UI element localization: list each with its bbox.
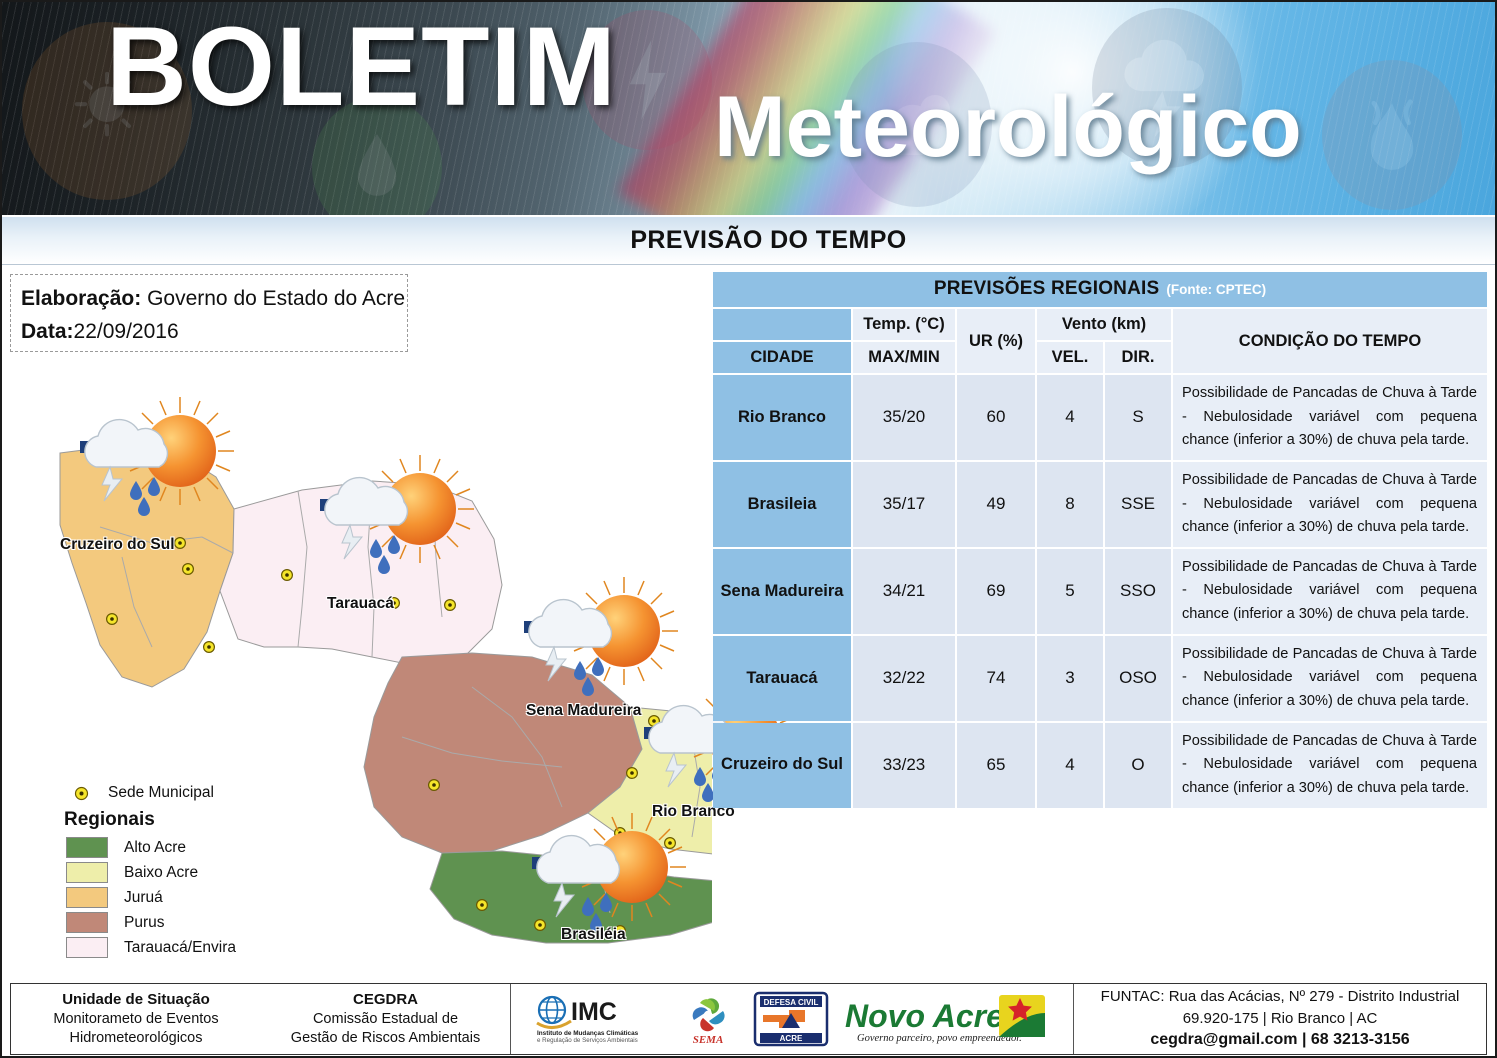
cell-temp-rio-branco: 35/20 — [853, 375, 955, 460]
cell-condition-rio-branco: Possibilidade de Pancadas de Chuva à Tar… — [1173, 375, 1487, 460]
cell-dir-cruzeiro-do-sul: O — [1105, 723, 1171, 808]
fire-icon — [1322, 60, 1462, 210]
cell-vel-rio-branco: 4 — [1037, 375, 1103, 460]
map-legend: Sede Municipal Regionais Alto Acre Baixo… — [64, 784, 294, 962]
cell-temp-sena-madureira: 34/21 — [853, 549, 955, 634]
header-temp-group: Temp. (°C) — [853, 309, 955, 340]
table-row: Brasileia 35/17 49 8 SSE Possibilidade d… — [713, 462, 1487, 547]
cell-temp-tarauaca: 32/22 — [853, 636, 955, 721]
novo-acre-logo: Novo Acre Governo parceiro, povo empreen… — [843, 991, 1049, 1047]
footer-unidade-line1: Monitorameto de Eventos — [53, 1010, 218, 1029]
banner-title-main: BOLETIM — [106, 8, 617, 126]
table-row: Cruzeiro do Sul 33/23 65 4 O Possibilida… — [713, 723, 1487, 808]
header-condition: CONDIÇÃO DO TEMPO — [1173, 309, 1487, 373]
footer-contact-line[interactable]: cegdra@gmail.com | 68 3213-3156 — [1150, 1029, 1409, 1052]
table-row: Sena Madureira 34/21 69 5 SSO Possibilid… — [713, 549, 1487, 634]
svg-text:DEFESA CIVIL: DEFESA CIVIL — [764, 998, 819, 1007]
legend-label-baixo-acre: Baixo Acre — [124, 864, 198, 882]
footer-unidade-line2: Hidrometeorológicos — [70, 1029, 203, 1048]
date-line: Data:22/09/2016 — [21, 316, 407, 349]
legend-item-alto-acre: Alto Acre — [64, 837, 294, 858]
elaboration-panel: Elaboração: Governo do Estado do Acre Da… — [10, 274, 408, 352]
cell-vel-brasileia: 8 — [1037, 462, 1103, 547]
header-ur: UR (%) — [957, 309, 1035, 373]
header-city: CIDADE — [713, 342, 851, 373]
page-title: PREVISÃO DO TEMPO — [630, 226, 906, 255]
elaboration-label: Elaboração: — [21, 287, 141, 310]
header-banner: BOLETIM Meteorológico — [2, 2, 1495, 215]
raindrops-icon — [574, 657, 604, 696]
weather-icon-tarauaca — [298, 447, 488, 602]
bulletin-page: BOLETIM Meteorológico PREVISÃO DO TEMPO … — [0, 0, 1497, 1058]
footer-cegdra-block: CEGDRA Comissão Estadual de Gestão de Ri… — [261, 984, 511, 1054]
cell-ur-rio-branco: 60 — [957, 375, 1035, 460]
cell-ur-tarauaca: 74 — [957, 636, 1035, 721]
map-label-cruzeiro-do-sul: Cruzeiro do Sul — [60, 536, 175, 554]
legend-swatch-tarauaca-envira — [66, 937, 108, 958]
cell-temp-brasileia: 35/17 — [853, 462, 955, 547]
legend-swatch-baixo-acre — [66, 862, 108, 883]
regional-forecast-table: PREVISÕES REGIONAIS(Fonte: CPTEC) Temp. … — [711, 270, 1489, 810]
defesa-civil-logo: DEFESA CIVIL ACRE — [753, 991, 829, 1047]
map-label-brasileia: Brasiléia — [561, 926, 626, 944]
cell-dir-sena-madureira: SSO — [1105, 549, 1171, 634]
raindrops-icon — [130, 477, 160, 516]
svg-text:Instituto de Mudanças Climátic: Instituto de Mudanças Climáticas — [537, 1030, 639, 1037]
legend-item-tarauaca-envira: Tarauacá/Envira — [64, 937, 294, 958]
cell-condition-cruzeiro-do-sul: Possibilidade de Pancadas de Chuva à Tar… — [1173, 723, 1487, 808]
cell-vel-cruzeiro-do-sul: 4 — [1037, 723, 1103, 808]
table-title: PREVISÕES REGIONAIS — [934, 278, 1160, 299]
cell-city-tarauaca: Tarauacá — [713, 636, 851, 721]
regional-forecast-table-wrap: PREVISÕES REGIONAIS(Fonte: CPTEC) Temp. … — [711, 270, 1489, 810]
legend-seat-row: Sede Municipal — [64, 784, 294, 802]
elaboration-value: Governo do Estado do Acre — [147, 287, 405, 310]
svg-text:Novo Acre: Novo Acre — [845, 998, 1004, 1034]
svg-text:IMC: IMC — [571, 998, 617, 1026]
legend-swatch-purus — [66, 912, 108, 933]
legend-seat-label: Sede Municipal — [108, 784, 214, 802]
legend-label-alto-acre: Alto Acre — [124, 839, 186, 857]
cell-ur-brasileia: 49 — [957, 462, 1035, 547]
footer-address-line2: 69.920-175 | Rio Branco | AC — [1183, 1008, 1378, 1029]
cell-temp-cruzeiro-do-sul: 33/23 — [853, 723, 955, 808]
footer-address-line1: FUNTAC: Rua das Acácias, Nº 279 - Distri… — [1101, 986, 1460, 1007]
raindrops-icon — [370, 535, 400, 574]
header-blank-cell — [713, 309, 851, 340]
cell-condition-sena-madureira: Possibilidade de Pancadas de Chuva à Tar… — [1173, 549, 1487, 634]
map-label-tarauaca: Tarauacá — [327, 595, 394, 613]
cell-ur-sena-madureira: 69 — [957, 549, 1035, 634]
legend-label-jurua: Juruá — [124, 889, 163, 907]
legend-item-jurua: Juruá — [64, 887, 294, 908]
legend-label-purus: Purus — [124, 914, 165, 932]
svg-text:Governo parceiro, povo empreen: Governo parceiro, povo empreendedor. — [857, 1033, 1022, 1044]
footer-unidade-block: Unidade de Situação Monitorameto de Even… — [11, 984, 261, 1054]
date-label: Data: — [21, 320, 74, 343]
map-label-sena-madureira: Sena Madureira — [526, 702, 641, 720]
cell-dir-brasileia: SSE — [1105, 462, 1171, 547]
page-footer: Unidade de Situação Monitorameto de Even… — [10, 983, 1487, 1055]
cell-city-rio-branco: Rio Branco — [713, 375, 851, 460]
legend-swatch-alto-acre — [66, 837, 108, 858]
table-header-row-1: Temp. (°C) UR (%) Vento (km) CONDIÇÃO DO… — [713, 309, 1487, 340]
footer-logos-block: IMC Instituto de Mudanças Climáticas e R… — [511, 984, 1074, 1054]
cell-condition-brasileia: Possibilidade de Pancadas de Chuva à Tar… — [1173, 462, 1487, 547]
svg-text:ACRE: ACRE — [780, 1034, 803, 1043]
header-wind-dir: DIR. — [1105, 342, 1171, 373]
table-title-row: PREVISÕES REGIONAIS(Fonte: CPTEC) — [713, 272, 1487, 307]
header-wind-vel: VEL. — [1037, 342, 1103, 373]
footer-cegdra-line1: Comissão Estadual de — [313, 1010, 458, 1029]
legend-item-purus: Purus — [64, 912, 294, 933]
legend-item-baixo-acre: Baixo Acre — [64, 862, 294, 883]
sema-logo: SEMA — [677, 991, 739, 1047]
cell-vel-sena-madureira: 5 — [1037, 549, 1103, 634]
table-title-cell: PREVISÕES REGIONAIS(Fonte: CPTEC) — [713, 272, 1487, 307]
cell-condition-tarauaca: Possibilidade de Pancadas de Chuva à Tar… — [1173, 636, 1487, 721]
cell-city-brasileia: Brasileia — [713, 462, 851, 547]
cell-dir-tarauaca: OSO — [1105, 636, 1171, 721]
banner-title-sub: Meteorológico — [714, 82, 1302, 172]
section-title-bar: PREVISÃO DO TEMPO — [2, 217, 1495, 265]
date-value: 22/09/2016 — [74, 320, 179, 343]
weather-icon-cruzeiro-do-sul — [58, 389, 248, 544]
svg-text:SEMA: SEMA — [693, 1034, 724, 1046]
cell-city-sena-madureira: Sena Madureira — [713, 549, 851, 634]
legend-swatch-jurua — [66, 887, 108, 908]
header-wind-group: Vento (km) — [1037, 309, 1171, 340]
cell-city-cruzeiro-do-sul: Cruzeiro do Sul — [713, 723, 851, 808]
cell-ur-cruzeiro-do-sul: 65 — [957, 723, 1035, 808]
legend-label-tarauaca-envira: Tarauacá/Envira — [124, 939, 236, 957]
table-row: Tarauacá 32/22 74 3 OSO Possibilidade de… — [713, 636, 1487, 721]
footer-cegdra-line2: Gestão de Riscos Ambientais — [291, 1029, 480, 1048]
footer-contact-block: FUNTAC: Rua das Acácias, Nº 279 - Distri… — [1074, 984, 1486, 1054]
imc-logo: IMC Instituto de Mudanças Climáticas e R… — [535, 993, 663, 1045]
municipal-seat-dot-icon — [64, 786, 98, 801]
table-row: Rio Branco 35/20 60 4 S Possibilidade de… — [713, 375, 1487, 460]
cell-dir-rio-branco: S — [1105, 375, 1171, 460]
legend-title: Regionais — [64, 809, 294, 831]
footer-unidade-title: Unidade de Situação — [62, 990, 210, 1010]
svg-text:e Regulação de Serviços Ambien: e Regulação de Serviços Ambientais — [537, 1037, 638, 1044]
cell-vel-tarauaca: 3 — [1037, 636, 1103, 721]
table-source: (Fonte: CPTEC) — [1166, 282, 1266, 297]
header-temp-sub: MAX/MIN — [853, 342, 955, 373]
footer-cegdra-title: CEGDRA — [353, 990, 418, 1010]
elaboration-line: Elaboração: Governo do Estado do Acre — [21, 283, 407, 316]
